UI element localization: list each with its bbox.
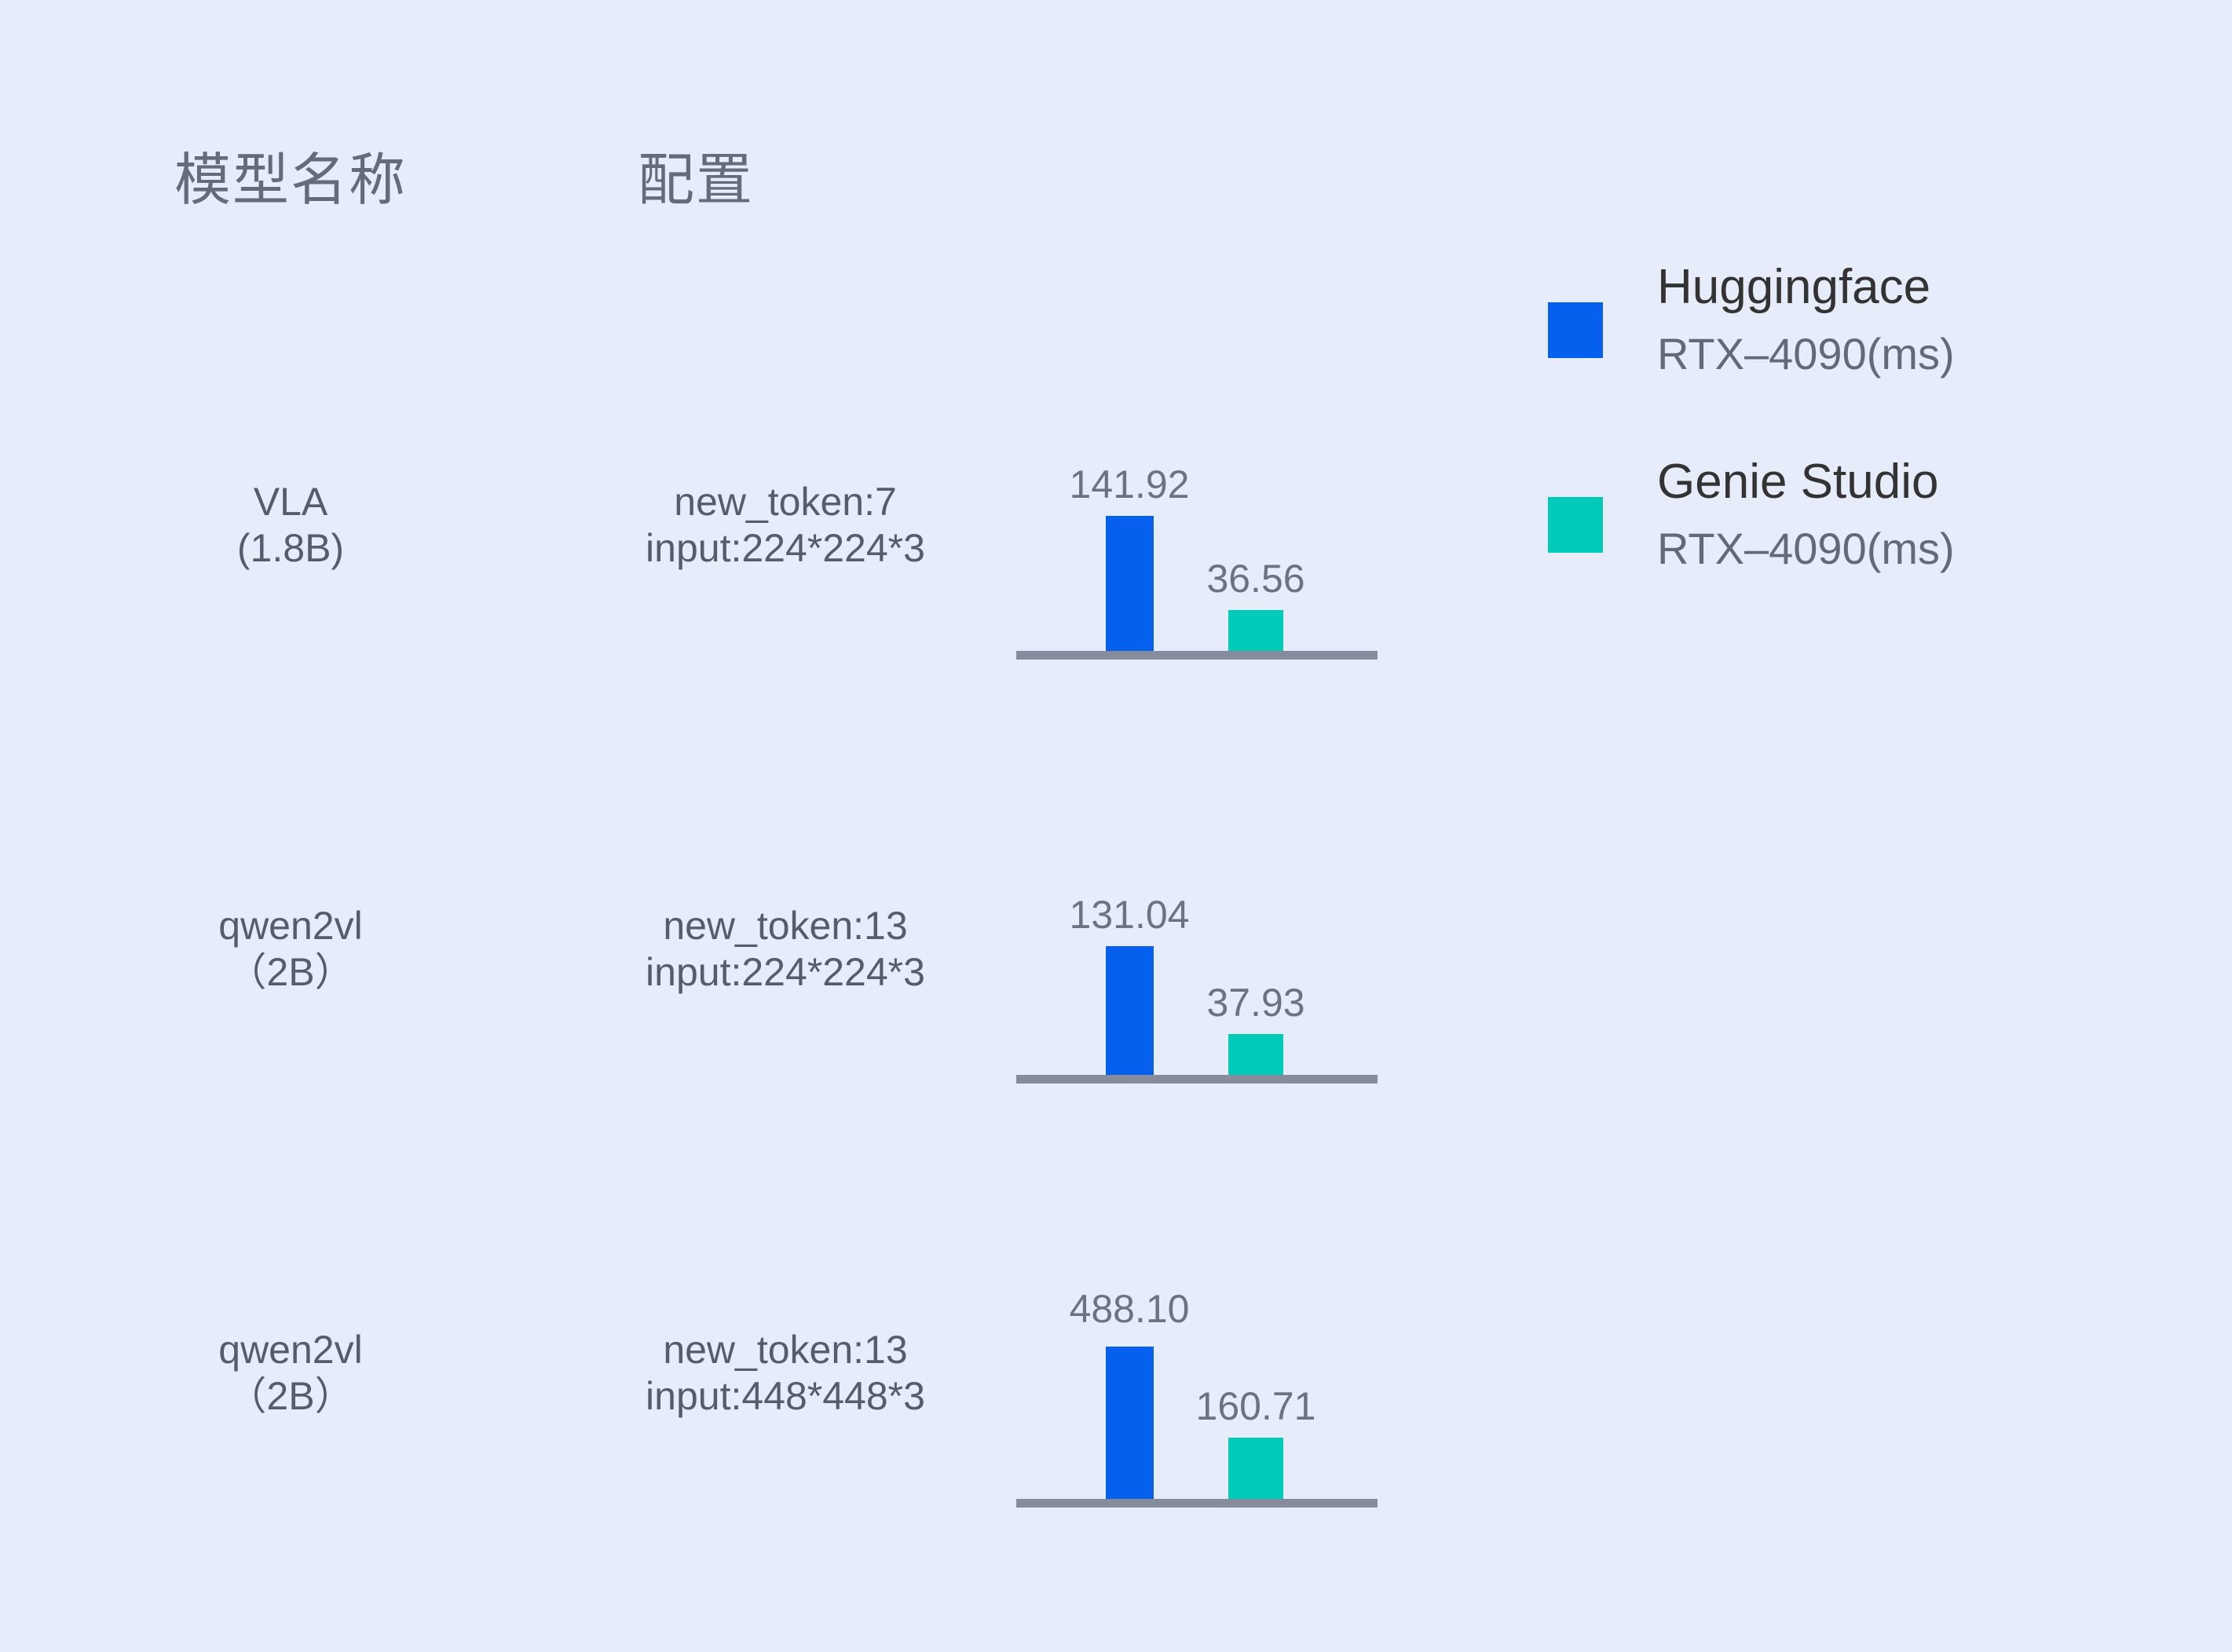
bar-group: 141.92 36.56 [1016, 424, 1378, 660]
legend-title: Huggingface [1657, 259, 1930, 315]
table-row: qwen2vl （2B） new_token:13 input:448*448*… [0, 1272, 2232, 1508]
bar-value-label-huggingface: 488.10 [1070, 1286, 1190, 1332]
chart-page: 模型名称 配置 VLA (1.8B) new_token:7 input:224… [0, 0, 2232, 1652]
legend-subtitle: RTX–4090(ms) [1657, 328, 1955, 379]
square-swatch-icon [1548, 497, 1603, 553]
bar-huggingface [1106, 516, 1154, 651]
cell-config: new_token:13 input:224*224*3 [487, 903, 1084, 996]
bar-value-label-huggingface: 141.92 [1070, 462, 1190, 507]
bar-value-label-huggingface: 131.04 [1070, 892, 1190, 937]
square-swatch-icon [1548, 302, 1603, 358]
column-header-model-name: 模型名称 [174, 133, 407, 216]
bar-genie-studio [1228, 610, 1283, 651]
row-baseline [1016, 1499, 1378, 1508]
cell-model-name: VLA (1.8B) [118, 479, 463, 572]
cell-config: new_token:13 input:448*448*3 [487, 1327, 1084, 1420]
cell-config: new_token:7 input:224*224*3 [487, 479, 1084, 572]
legend-subtitle: RTX–4090(ms) [1657, 523, 1955, 574]
bar-genie-studio [1228, 1438, 1283, 1499]
bar-value-label-genie: 36.56 [1206, 556, 1304, 601]
bar-value-label-genie: 37.93 [1206, 980, 1304, 1025]
bar-genie-studio [1228, 1034, 1283, 1075]
cell-model-name: qwen2vl （2B） [118, 903, 463, 996]
bar-group: 488.10 160.71 [1016, 1272, 1378, 1508]
bar-huggingface [1106, 1347, 1154, 1508]
row-baseline [1016, 1075, 1378, 1084]
row-baseline [1016, 651, 1378, 660]
bar-value-label-genie: 160.71 [1196, 1383, 1316, 1429]
bar-huggingface [1106, 946, 1154, 1075]
table-row: qwen2vl （2B） new_token:13 input:224*224*… [0, 848, 2232, 1084]
bar-group: 131.04 37.93 [1016, 848, 1378, 1084]
cell-model-name: qwen2vl （2B） [118, 1327, 463, 1420]
column-header-config: 配置 [638, 133, 754, 216]
legend-title: Genie Studio [1657, 454, 1938, 510]
